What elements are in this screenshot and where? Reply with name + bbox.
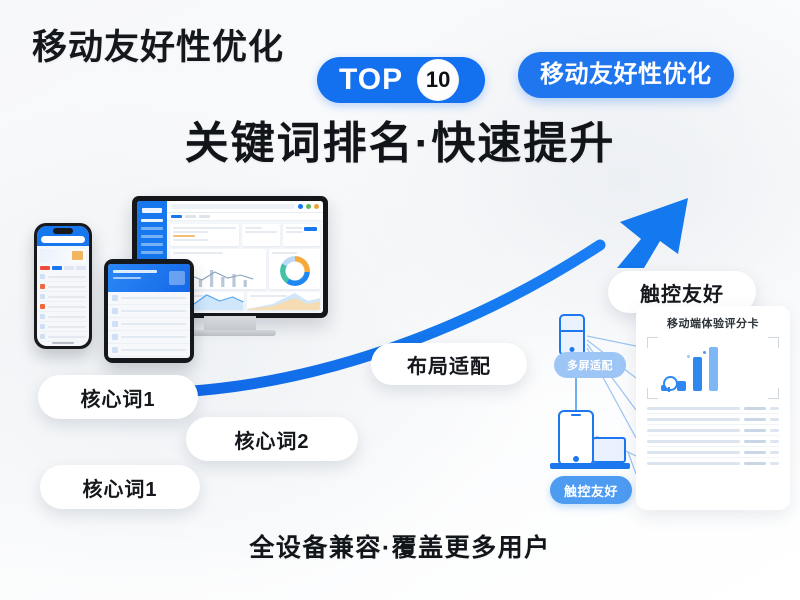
diagram-phone-small-icon — [559, 314, 585, 356]
scorecard-row — [647, 458, 779, 468]
multi-screen-tag[interactable]: 多屏适配 — [554, 352, 626, 378]
location-pin-icon — [663, 376, 678, 391]
keyword-pill-2[interactable]: 核心词2 — [186, 417, 358, 461]
footer-tagline: 全设备兼容·覆盖更多用户 — [0, 528, 800, 564]
tablet-mockup — [104, 259, 194, 363]
phone-notch — [53, 228, 73, 234]
keyword-pill-3[interactable]: 核心词1 — [40, 465, 200, 509]
line-chart-icon — [247, 292, 321, 310]
donut-chart-icon — [280, 256, 310, 286]
keyword-pill-1[interactable]: 核心词1 — [38, 375, 198, 419]
monitor-base — [184, 330, 276, 336]
diagram-phone-large-icon — [558, 410, 594, 466]
scorecard-row — [647, 447, 779, 458]
dashboard-search-icon — [171, 204, 295, 209]
dashboard-tabs — [167, 213, 323, 221]
scorecard-title: 移动端体验评分卡 — [647, 315, 779, 331]
scorecard-chart — [647, 337, 779, 399]
phone-mockup — [34, 223, 92, 349]
device-mockup-cluster — [28, 196, 328, 366]
scorecard-row — [647, 414, 779, 425]
phone-search-bar — [41, 236, 85, 243]
poster-canvas: 移动友好性优化 TOP 10 移动友好性优化 关键词排名·快速提升 — [0, 0, 800, 600]
diagram-laptop-icon — [592, 437, 626, 463]
scorecard-row — [647, 403, 779, 414]
device-network-diagram: 多屏适配 触控友好 移动端体验评分卡 — [540, 306, 790, 516]
touch-friendly-tag[interactable]: 触控友好 — [550, 476, 632, 504]
experience-scorecard: 移动端体验评分卡 — [636, 306, 790, 510]
dashboard-topbar — [167, 201, 323, 213]
diagram-laptop-base — [550, 463, 630, 469]
scorecard-row — [647, 425, 779, 436]
scorecard-row — [647, 436, 779, 447]
keyword-pill-layout[interactable]: 布局适配 — [371, 343, 527, 385]
